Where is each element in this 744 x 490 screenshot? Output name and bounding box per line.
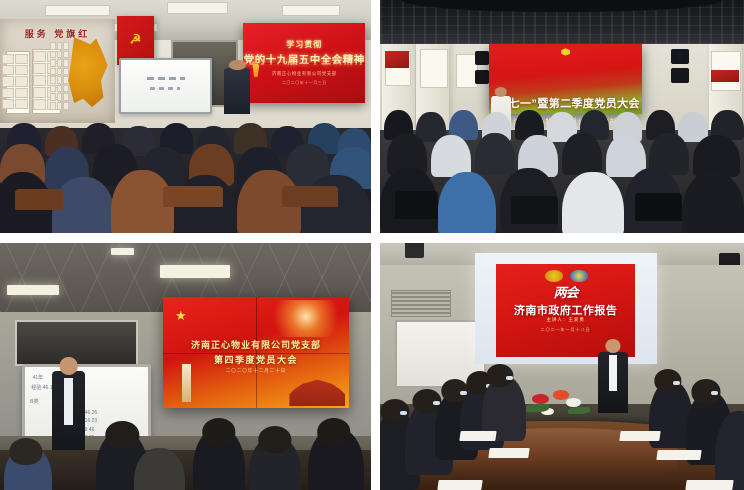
chair	[163, 186, 222, 207]
slide-host: 主讲人：王爱勇	[502, 317, 629, 323]
wall-poster-red-band	[711, 70, 738, 82]
ceiling-light	[167, 2, 228, 13]
photo-bottom-right[interactable]: 两会 济南市政府工作报告 主讲人：王爱勇 二〇二一年一月十八日	[380, 243, 744, 490]
audience-person	[562, 133, 602, 175]
document-page	[620, 431, 661, 441]
national-emblem-icon	[545, 270, 563, 282]
air-vent	[391, 290, 451, 317]
photo-collage: 服务 党旗红	[0, 0, 744, 490]
document-page	[488, 448, 529, 458]
flower	[553, 390, 569, 399]
cppcc-emblem-icon	[570, 270, 588, 282]
projector	[405, 243, 423, 258]
flower	[532, 394, 549, 404]
leaf	[526, 404, 550, 411]
whiteboard-note: B类	[30, 398, 38, 407]
chair	[511, 196, 558, 224]
wall-speaker	[475, 51, 490, 65]
presenter-head	[59, 357, 78, 374]
flower-centerpiece	[526, 386, 592, 426]
speaker-head	[229, 60, 245, 70]
whiteboard-note: 41年	[33, 374, 44, 383]
chair	[15, 189, 63, 210]
wall-badge-grid	[50, 42, 69, 110]
document-page	[459, 431, 497, 441]
banner-line-1: 学习贯彻	[286, 39, 322, 50]
light-burst-graphic	[263, 300, 341, 338]
party-emblem-icon	[560, 48, 572, 56]
led-banner-screen[interactable]: 学习贯彻 党的十九届五中全会精神 济南正心物业有限公司党支部 二〇二〇年十一月三…	[243, 23, 365, 102]
wall-speaker	[475, 70, 490, 84]
ceiling	[380, 0, 744, 44]
slide-date: 二〇二一年一月十八日	[502, 327, 629, 333]
banner-date: 二〇二〇年十一月三日	[282, 80, 327, 86]
conference-table-scene: 两会 济南市政府工作报告 主讲人：王爱勇 二〇二一年一月十八日	[380, 243, 744, 490]
banner-line-2: 党的十九届五中全会精神	[244, 52, 365, 67]
led-screen[interactable]: 庆“七一”暨第二季度党员大会 济南正心物业有限公司党支部 二〇二〇年七月一日	[489, 44, 642, 114]
audience-head	[202, 418, 235, 445]
document-page	[685, 480, 734, 490]
ceiling-light	[282, 5, 340, 16]
ceiling-light	[7, 285, 59, 295]
audience-head	[9, 438, 42, 465]
face-mask	[711, 391, 718, 395]
presenter-shirt	[64, 378, 73, 425]
wall-poster	[420, 49, 447, 88]
screen-line-1: 济南正心物业有限公司党支部	[178, 338, 334, 351]
chair	[395, 191, 439, 219]
screen-title: 庆“七一”暨第二季度党员大会	[491, 95, 640, 111]
flower	[566, 398, 580, 407]
chair	[282, 186, 338, 207]
presenter-head	[495, 87, 507, 97]
audience-person	[562, 172, 624, 233]
chair	[635, 193, 682, 221]
whiteboard	[119, 58, 212, 113]
window	[15, 320, 138, 366]
photo-bottom-left[interactable]: 41年 经验 46.15 B类 12次 2046 26 2016 23 249 …	[0, 243, 371, 490]
document-page	[656, 450, 701, 460]
audience-head	[258, 426, 291, 453]
presenter-figure	[52, 371, 85, 450]
photo-top-right[interactable]: 庆“七一”暨第二季度党员大会 济南正心物业有限公司党支部 二〇二〇年七月一日	[380, 0, 744, 233]
presenter-shirt	[609, 355, 618, 391]
slide-title: 济南市政府工作报告	[502, 302, 629, 318]
banner-subtitle: 济南正心物业有限公司党支部	[272, 71, 337, 77]
face-mask	[400, 411, 407, 415]
whiteboard-writing	[150, 87, 180, 90]
document-page	[438, 480, 483, 490]
screen-date: 二〇二〇年十二月二十日	[178, 368, 334, 374]
audience-person	[682, 172, 744, 233]
photo-top-left[interactable]: 服务 党旗红	[0, 0, 371, 233]
audience-person	[475, 133, 515, 175]
face-mask	[673, 381, 680, 385]
leaf	[568, 407, 590, 414]
hall-meeting-scene: 庆“七一”暨第二季度党员大会 济南正心物业有限公司党支部 二〇二〇年七月一日	[380, 0, 744, 233]
torch-icon	[250, 60, 261, 77]
meeting-room-videowall-scene: 41年 经验 46.15 B类 12次 2046 26 2016 23 249 …	[0, 243, 371, 490]
video-wall-display[interactable]: ★ 济南正心物业有限公司党支部 第四季度党员大会 二〇二〇年十二月二十日	[163, 297, 349, 408]
wall-speaker	[671, 68, 689, 83]
ceiling-light	[111, 248, 133, 255]
screen-line-2: 第四季度党员大会	[178, 353, 334, 366]
wall-poster-red-header	[385, 51, 409, 67]
face-mask	[506, 376, 513, 380]
wall-photo-grid	[2, 54, 28, 110]
audience-head	[317, 418, 350, 445]
star-icon: ★	[173, 307, 190, 324]
presenter-figure	[598, 352, 627, 414]
presenter-head	[605, 339, 620, 353]
speaker-figure	[224, 68, 250, 115]
whiteboard-writing	[147, 77, 184, 80]
tiananmen-graphic	[289, 377, 345, 406]
classroom-scene-top-left: 服务 党旗红	[0, 0, 371, 233]
audience-person	[431, 135, 471, 177]
wall-speaker	[671, 49, 689, 64]
face-mask	[433, 401, 440, 405]
party-emblem-icon: ☭	[125, 27, 147, 50]
audience-person	[693, 135, 740, 177]
ceiling-light	[45, 5, 110, 16]
slide-calligraphy: 两会	[532, 285, 598, 300]
audience-head	[106, 421, 139, 448]
ceiling-light	[160, 265, 230, 277]
projection-screen[interactable]: 两会 济南市政府工作报告 主讲人：王爱勇 二〇二一年一月十八日	[475, 253, 657, 364]
